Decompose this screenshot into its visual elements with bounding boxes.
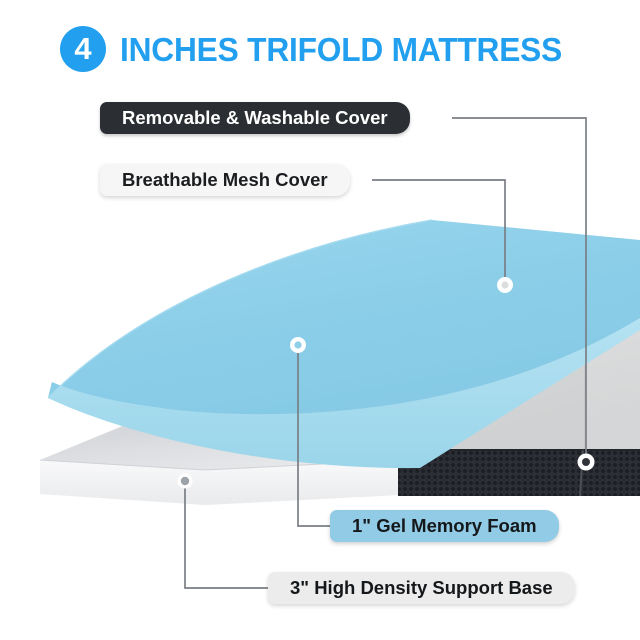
callout-gel-memory-foam[interactable]: 1" Gel Memory Foam (330, 510, 559, 542)
infographic-canvas: 4 INCHES TRIFOLD MATTRESS (0, 0, 640, 640)
ring-marker-mesh-center (582, 458, 590, 466)
ring-marker-foam-center (294, 341, 301, 348)
dot-marker-base-center (181, 477, 189, 485)
callout-label: 3" High Density Support Base (290, 579, 553, 598)
callout-high-density-support-base[interactable]: 3" High Density Support Base (268, 572, 575, 604)
callout-label: Removable & Washable Cover (122, 109, 388, 128)
mattress-illustration (0, 0, 640, 640)
callout-breathable-mesh-cover[interactable]: Breathable Mesh Cover (100, 164, 350, 196)
callout-removable-washable-cover[interactable]: Removable & Washable Cover (100, 102, 410, 134)
callout-label: Breathable Mesh Cover (122, 171, 328, 190)
callout-label: 1" Gel Memory Foam (352, 517, 537, 536)
ring-marker-cover-center (501, 281, 508, 288)
